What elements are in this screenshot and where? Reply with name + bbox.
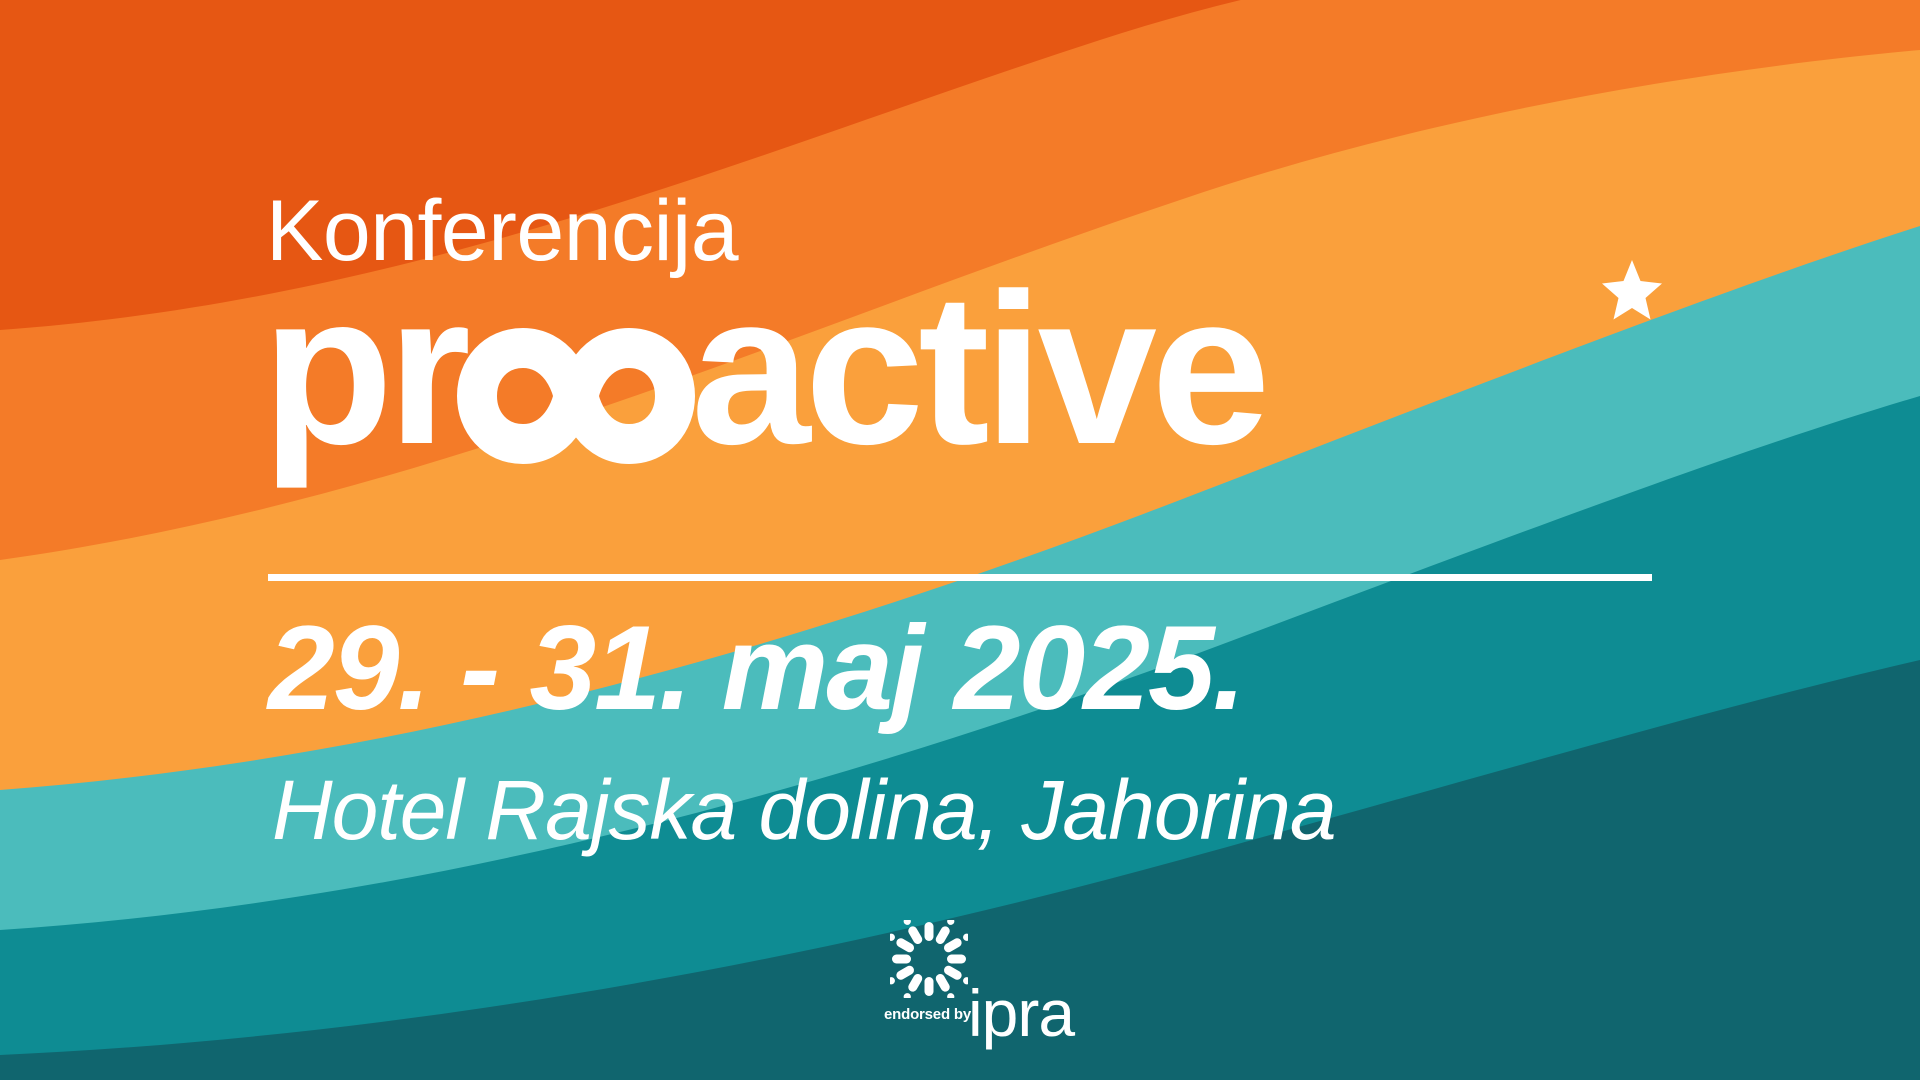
ipra-sunburst-icon bbox=[890, 920, 968, 998]
wordmark-part-two: active bbox=[691, 270, 1265, 468]
conference-banner: Konferencija pr active 29. - 31. maj 202… bbox=[0, 0, 1920, 1080]
endorsed-by-label: endorsed by bbox=[884, 1006, 971, 1023]
proactive-wordmark: pr active bbox=[262, 270, 1265, 480]
wordmark-infinity-ligature-oa bbox=[455, 270, 697, 470]
divider-rule bbox=[268, 574, 1652, 581]
ipra-wordmark: ipra bbox=[968, 980, 1074, 1046]
ipra-endorsement-logo: endorsed by ipra bbox=[884, 920, 1044, 1046]
event-date: 29. - 31. maj 2025. bbox=[268, 608, 1244, 728]
banner-content: Konferencija pr active 29. - 31. maj 202… bbox=[0, 0, 1920, 1080]
wordmark-part-one: pr bbox=[262, 270, 465, 468]
event-venue: Hotel Rajska dolina, Jahorina bbox=[272, 768, 1336, 852]
star-icon bbox=[1600, 258, 1664, 322]
